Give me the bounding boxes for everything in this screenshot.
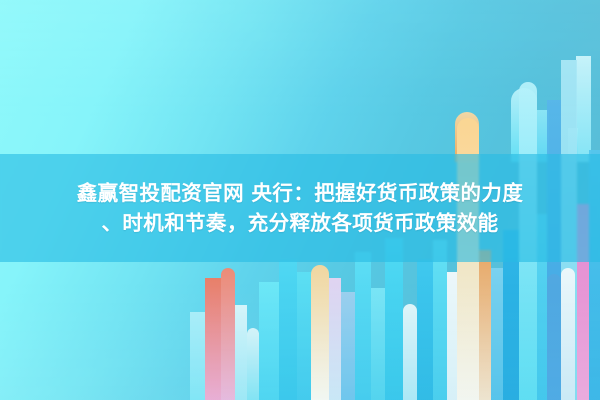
bar-29 <box>561 268 575 400</box>
bar-12 <box>371 288 385 400</box>
bar-06 <box>279 260 297 400</box>
bar-08 <box>311 265 329 400</box>
bar-02 <box>221 268 235 400</box>
bar-07 <box>297 272 311 400</box>
bar-13 <box>385 238 403 400</box>
bar-30 <box>190 312 205 400</box>
bar-20 <box>491 268 503 400</box>
headline-line-1: 鑫赢智投配资官网 央行：把握好货币政策的力度 <box>77 180 523 206</box>
headline-line-2: 、时机和节奏，充分释放各项货币政策效能 <box>101 210 498 236</box>
bar-03 <box>235 305 247 400</box>
bar-01 <box>205 278 221 400</box>
bar-09 <box>329 278 341 400</box>
bar-04 <box>247 328 259 400</box>
bar-15 <box>417 260 433 400</box>
banner-image: 鑫赢智投配资官网 央行：把握好货币政策的力度 、时机和节奏，充分释放各项货币政策… <box>0 0 600 400</box>
bar-10 <box>341 292 355 400</box>
bar-11 <box>355 252 371 400</box>
bar-16 <box>433 240 447 400</box>
headline-text: 鑫赢智投配资官网 央行：把握好货币政策的力度 、时机和节奏，充分释放各项货币政策… <box>0 154 600 262</box>
bar-05 <box>259 282 279 400</box>
bar-14 <box>403 304 417 400</box>
bar-17 <box>447 272 457 400</box>
bar-19 <box>479 250 491 400</box>
